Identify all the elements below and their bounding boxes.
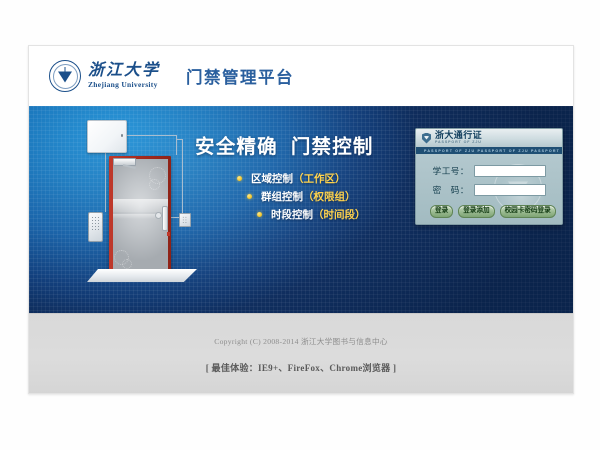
wire-segment [105,151,107,212]
campus-card-login-button[interactable]: 校园卡密码登录 [500,205,556,218]
page-root: 浙江大学 Zhejiang University 门禁管理平台 [0,0,600,450]
wire-segment [125,135,177,137]
login-form: 学工号： 密 码： 登录 登录添加 校园卡密码登录 [416,154,562,224]
card-reader-icon [179,213,191,227]
site-footer: Copyright (C) 2008-2014 浙江大学图书与信息中心 [ 最佳… [29,313,573,394]
browser-support-text: [ 最佳体验：IE9+、FireFox、Chrome浏览器 ] [29,361,573,374]
feature-item-group-control: 群组控制 （权限组） [247,189,356,204]
shield-icon [422,133,431,144]
login-button-row: 登录 登录添加 校园卡密码登录 [430,205,556,218]
gear-decoration-icon [149,179,160,190]
door-indicator-light [167,232,170,236]
headline-part-1: 安全精确 [195,136,278,158]
feature-tag: （时间段） [313,207,366,222]
wire-segment [176,135,178,155]
door-knob-icon [155,212,162,219]
zju-seal-icon [49,60,81,92]
wire-segment [182,139,184,217]
brand-logo[interactable]: 浙江大学 Zhejiang University [49,60,160,92]
feature-label: 区域控制 [251,171,293,186]
feature-item-time-control: 时段控制 （时间段） [257,207,366,222]
login-title-cn: 浙大通行证 [435,131,482,140]
login-panel-title: 浙大通行证 PASSPORT OF ZJU [435,131,482,145]
university-name: 浙江大学 Zhejiang University [88,63,160,89]
username-input[interactable] [474,165,546,177]
access-control-illustration [69,114,214,304]
bullet-dot-icon [247,194,252,199]
keypad-keys [91,216,100,230]
gear-decoration-icon [122,259,132,269]
site-header: 浙江大学 Zhejiang University 门禁管理平台 [29,46,573,106]
password-input[interactable] [474,184,546,196]
headline-part-2: 门禁控制 [291,136,374,158]
login-add-button[interactable]: 登录添加 [458,205,494,218]
door-push-bar-icon [162,206,168,231]
keypad-reader-icon [88,212,103,242]
university-name-cn: 浙江大学 [88,63,160,79]
feature-label: 时段控制 [271,207,313,222]
feature-item-area-control: 区域控制 （工作区） [237,171,346,186]
login-panel-titlebar: 浙大通行证 PASSPORT OF ZJU [416,129,562,148]
login-panel: 浙大通行证 PASSPORT OF ZJU PASSPORT OF ZJU PA… [415,128,563,225]
page-title: 门禁管理平台 [186,64,294,88]
feature-tag: （权限组） [303,189,356,204]
copyright-text: Copyright (C) 2008-2014 浙江大学图书与信息中心 [29,336,573,347]
feature-label: 群组控制 [261,189,303,204]
floor-plate-icon [87,269,197,282]
password-label: 密 码： [427,184,469,196]
feature-tag: （工作区） [293,171,346,186]
username-label: 学工号： [427,165,469,177]
content-card: 浙江大学 Zhejiang University 门禁管理平台 [28,45,574,394]
controller-box-icon [87,120,127,153]
door-highlight [113,199,168,212]
hero-banner: 安全精确门禁控制 区域控制 （工作区） 群组控制 （权限组） 时段控制 （时间段… [29,106,573,313]
banner-headline: 安全精确门禁控制 [195,130,374,159]
login-button[interactable]: 登录 [430,205,453,218]
passport-pattern-text: PASSPORT OF ZJU PASSPORT OF ZJU PASSPORT… [424,149,562,153]
field-row-password: 密 码： [427,184,546,196]
seal-inner-ring [53,64,78,89]
login-title-en: PASSPORT OF ZJU [435,141,482,145]
field-row-username: 学工号： [427,165,546,177]
bullet-dot-icon [257,212,262,217]
university-name-en: Zhejiang University [88,81,160,89]
card-reader-keys [182,216,188,224]
bullet-dot-icon [237,176,242,181]
